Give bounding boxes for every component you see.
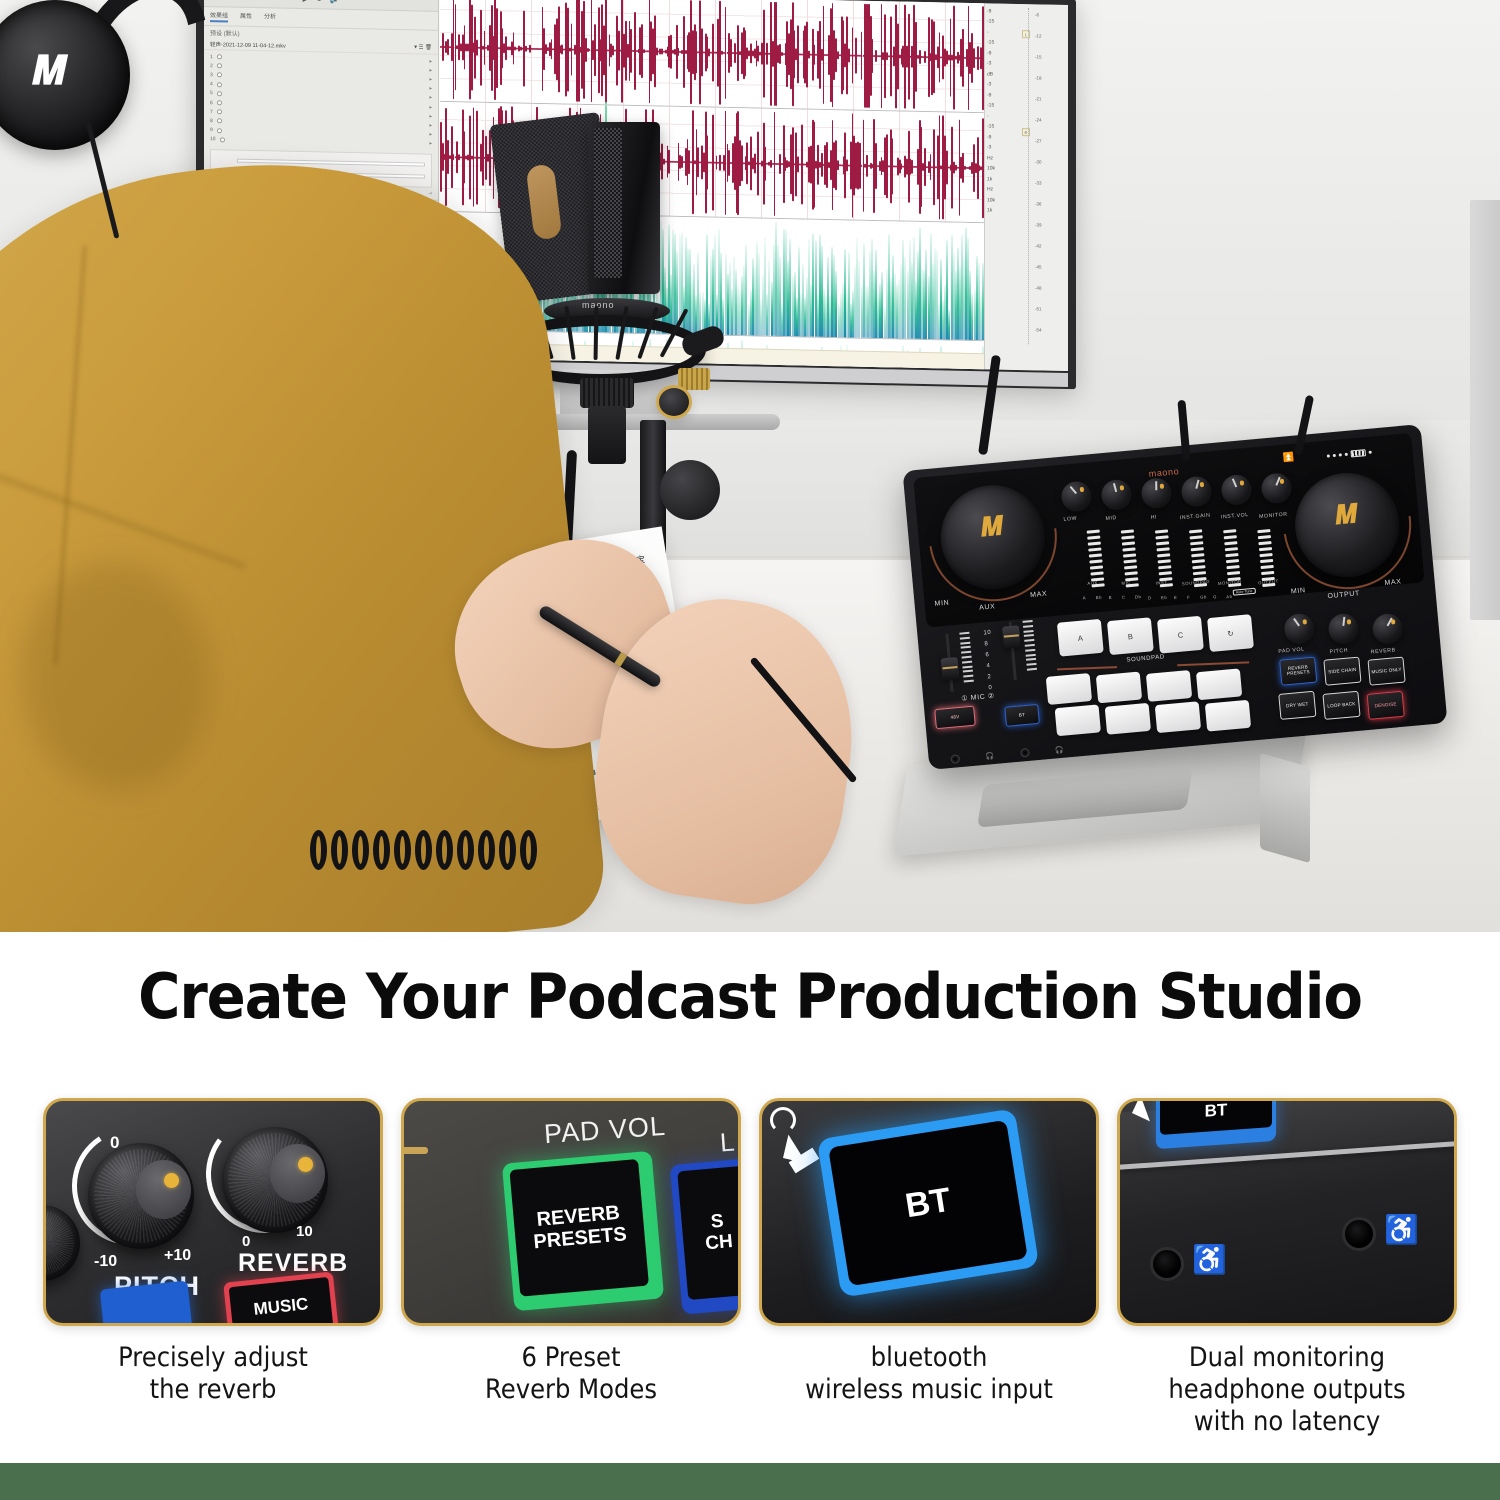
music-button-label: MUSIC xyxy=(229,1277,334,1326)
meter-tick: -36 xyxy=(1035,201,1042,206)
reverb-presets-button-large: REVERB PRESETS xyxy=(502,1151,664,1312)
side-chain-line2: CH xyxy=(705,1232,734,1255)
autotune-note: Db xyxy=(1135,594,1142,600)
pitch-max-tick: +10 xyxy=(164,1247,191,1265)
audio-mixer-interface[interactable]: 𝑴 MIN AUX MAX maono LOW MID HI INST.GAIN… xyxy=(902,424,1447,770)
pitch-knob[interactable] xyxy=(1327,613,1360,646)
fabric-fold xyxy=(0,461,246,570)
bluetooth-icon: ⏫ xyxy=(1282,452,1294,464)
db-tick: -9 xyxy=(987,135,1017,141)
feature-card-bluetooth: BT bluetooth wireless music input xyxy=(759,1098,1099,1338)
fader-scale-tick: 6 xyxy=(985,652,989,658)
meter-segment xyxy=(1121,535,1134,540)
meter-tick: -45 xyxy=(1035,264,1042,269)
mic-channel-label: ① MIC ② xyxy=(961,692,995,703)
fader-tick xyxy=(1023,625,1033,628)
waveform-sample xyxy=(605,0,607,103)
chevron-right-icon[interactable]: ▸ xyxy=(429,132,432,138)
meter-tick: -15 xyxy=(1035,54,1042,59)
pad-vol-label: PAD VOL xyxy=(1278,646,1305,654)
meter-segment xyxy=(1258,535,1271,540)
music-only-button[interactable]: MUSIC ONLY xyxy=(1367,657,1405,686)
cable-ring xyxy=(331,830,348,870)
fader-scale-tick: 2 xyxy=(987,674,991,680)
chevron-right-icon[interactable]: ▸ xyxy=(429,67,432,73)
meter-segment xyxy=(1121,529,1134,534)
fader-scale-tick: 4 xyxy=(986,663,990,669)
fader-tick xyxy=(959,632,969,635)
panel-edge-pin xyxy=(402,1147,428,1154)
fader-handle[interactable] xyxy=(1002,625,1021,648)
slot-toggle-icon[interactable] xyxy=(217,109,222,114)
soundpad-pad[interactable] xyxy=(1155,701,1201,733)
meter-tick: -33 xyxy=(1035,180,1042,185)
fader-tick xyxy=(964,680,974,683)
slot-toggle-icon[interactable] xyxy=(217,100,222,105)
headphone-jack-2[interactable] xyxy=(1020,748,1030,758)
meter-segment xyxy=(1261,565,1274,570)
slot-index: 9 xyxy=(210,127,213,133)
headphone-icon: 🎧 xyxy=(985,752,994,761)
slot-index: 2 xyxy=(210,63,213,69)
product-infographic-page: ▶ ↻ 🔊 效果组 属性 分析 预设 (默认) 轻声-2021-12-09 11… xyxy=(0,0,1500,1500)
pad-vol-knob[interactable] xyxy=(1283,613,1316,646)
mic-body-mesh xyxy=(594,128,622,278)
cable-ring xyxy=(499,830,516,870)
autotune-note: E xyxy=(1174,594,1178,599)
db-tick: -15 xyxy=(987,103,1017,109)
reverb-label: REVERB xyxy=(1371,647,1396,655)
reverb-knob-large xyxy=(222,1127,328,1233)
chevron-right-icon[interactable]: ▸ xyxy=(429,77,432,83)
autotune-note: A xyxy=(1082,595,1086,600)
meter-segment xyxy=(1190,541,1203,546)
cable-ring xyxy=(310,830,327,870)
card-caption: bluetooth wireless music input xyxy=(776,1342,1082,1406)
fader-tick xyxy=(960,641,970,644)
cable-ring xyxy=(457,830,474,870)
meter-segment xyxy=(1224,535,1237,540)
pitch-knob-large xyxy=(88,1143,194,1249)
meter-tick: -24 xyxy=(1035,117,1042,122)
meter-tick: -6 xyxy=(1035,12,1039,17)
meter-segment xyxy=(1089,559,1102,564)
slot-index: 10 xyxy=(210,136,216,142)
tab-effects[interactable]: 效果组 xyxy=(210,10,228,22)
fader-tick xyxy=(1025,649,1035,652)
meter-segment xyxy=(1123,553,1136,558)
fader-scale-tick: 10 xyxy=(983,630,991,637)
headphone-jack-left xyxy=(1150,1247,1184,1281)
db-tick: dB xyxy=(987,72,1017,78)
loop-back-button[interactable]: LOOP BACK xyxy=(1322,691,1360,720)
meter-tick: -30 xyxy=(1035,159,1042,164)
feature-card-reverb-presets: PAD VOL L REVERB PRESETS S CH 6 Preset R… xyxy=(401,1098,741,1338)
fader-tick xyxy=(1026,653,1036,656)
thumbnail-bluetooth: BT xyxy=(759,1098,1099,1326)
slot-index: 6 xyxy=(210,100,213,106)
fader-tick xyxy=(1024,634,1034,637)
autotune-note: D xyxy=(1148,595,1152,600)
level-meter-scale: -6-12-15-18-21-24-27-30-33-36-39-42-45-4… xyxy=(1028,8,1062,345)
meter-segment xyxy=(1122,547,1135,552)
soundpad-pad[interactable] xyxy=(1046,673,1092,705)
side-chain-button[interactable]: SIDE CHAIN xyxy=(1323,657,1361,686)
thumbnail-reverb-presets: PAD VOL L REVERB PRESETS S CH xyxy=(401,1098,741,1326)
chevron-right-icon[interactable]: ▸ xyxy=(429,141,432,147)
soundpad-pad[interactable] xyxy=(1096,672,1142,704)
meter-segment xyxy=(1087,530,1100,535)
mic-stand-knob xyxy=(660,460,720,520)
slot-toggle-icon[interactable] xyxy=(220,137,225,142)
meter-segment xyxy=(1123,559,1136,564)
db-tick: - xyxy=(987,114,1017,120)
bt-button-label: BT xyxy=(828,1120,1028,1286)
tilt-thumbscrew xyxy=(656,385,692,419)
meter-segment xyxy=(1189,529,1202,534)
meter-tick: -12 xyxy=(1035,33,1042,38)
cable-ring xyxy=(520,830,537,870)
slot-index: 5 xyxy=(210,90,213,96)
slot-toggle-icon[interactable] xyxy=(217,128,222,133)
meter-tick: -54 xyxy=(1035,327,1042,332)
card-caption: 6 Preset Reverb Modes xyxy=(418,1342,724,1406)
daw-file-name: 轻声-2021-12-09 11-04-12.mkv xyxy=(210,40,286,50)
chevron-right-icon[interactable]: ▸ xyxy=(429,95,432,101)
volume-icon[interactable]: 🔊 xyxy=(329,0,339,4)
db-tick: -15 xyxy=(987,40,1017,46)
side-chain-line1: S xyxy=(710,1211,724,1233)
denoise-button[interactable]: DENOISE xyxy=(1367,691,1405,720)
fader-tick xyxy=(1026,658,1036,661)
meter-segment xyxy=(1124,565,1137,570)
slot-toggle-icon[interactable] xyxy=(217,82,222,87)
daw-effect-slot-list: 1▸ 2▸ 3▸ 4▸ 5▸ 6▸ 7▸ 8▸ 9▸ 10▸ xyxy=(204,50,438,151)
soundpad-label: SOUNDPAD xyxy=(1126,654,1165,663)
meter-segment xyxy=(1226,559,1239,564)
soundpad-bank-a[interactable]: A xyxy=(1057,619,1104,657)
cable-ring xyxy=(394,830,411,870)
waveform-track-left[interactable] xyxy=(440,0,984,113)
cable-ring xyxy=(415,830,432,870)
chevron-right-icon[interactable]: ▸ xyxy=(429,123,432,129)
fader-handle[interactable] xyxy=(941,657,960,680)
headphone-icon: ♿ xyxy=(1192,1243,1227,1276)
db-tick: Hz xyxy=(987,156,1017,162)
xlr-connector xyxy=(588,406,626,464)
thumbnail-headphone-jacks: BT ♿ ♿ xyxy=(1117,1098,1457,1326)
autotune-note: Bb xyxy=(1096,595,1103,601)
loop-icon[interactable]: ↻ xyxy=(316,0,323,3)
meter-segment xyxy=(1157,547,1170,552)
meter-segment xyxy=(1259,553,1272,558)
pitch-label: PITCH xyxy=(1329,648,1348,656)
autotune-note: F xyxy=(1187,594,1191,599)
hi-label: HI xyxy=(1150,514,1157,521)
slot-index: 7 xyxy=(210,109,213,115)
fader-tick xyxy=(1024,639,1034,642)
headphone-jack-right xyxy=(1342,1217,1376,1251)
meter-segment xyxy=(1159,571,1172,576)
slot-toggle-icon[interactable] xyxy=(217,54,222,59)
meter-segment xyxy=(1258,541,1271,546)
meter-segment xyxy=(1223,529,1236,534)
autotune-note: B xyxy=(1109,595,1113,600)
meter-tick: -48 xyxy=(1035,285,1042,290)
chevron-right-icon[interactable]: ▸ xyxy=(429,86,432,92)
db-tick: -15 xyxy=(987,124,1017,130)
fader-tick xyxy=(961,651,971,654)
autotune-note: Ab xyxy=(1226,594,1233,600)
slot-index: 3 xyxy=(210,72,213,78)
blue-button-partial xyxy=(100,1281,193,1326)
reverb-knob[interactable] xyxy=(1371,613,1404,646)
bt-button-label: BT xyxy=(1160,1098,1272,1135)
cable-ring xyxy=(478,830,495,870)
fader-tick xyxy=(962,660,972,663)
db-tick: 1k xyxy=(987,177,1017,183)
meter-segment xyxy=(1192,559,1205,564)
feature-card-reverb-knob: 0 -10 +10 PITCH 0 10 REVERB MUSIC Precis… xyxy=(43,1098,383,1338)
meter-tick: -51 xyxy=(1035,306,1042,311)
soundpad-bank-b[interactable]: B xyxy=(1107,617,1154,655)
soundpad-bank-c[interactable]: C xyxy=(1157,616,1204,654)
soundpad-pad[interactable] xyxy=(1055,704,1101,736)
db-tick: 1k xyxy=(987,208,1017,214)
chevron-right-icon[interactable]: ▸ xyxy=(429,113,432,119)
soundpad-pad[interactable] xyxy=(1105,703,1151,735)
fader-scale-tick: 0 xyxy=(988,685,992,691)
mic1-fader[interactable] xyxy=(939,633,959,692)
soundpad-pad[interactable] xyxy=(1205,700,1251,732)
meter-segment xyxy=(1225,553,1238,558)
autotune-note: C xyxy=(1122,595,1126,600)
bt-button-large: BT xyxy=(817,1108,1040,1297)
headphone-jack-1[interactable] xyxy=(950,754,960,764)
meter-segment xyxy=(1191,553,1204,558)
meter-segment xyxy=(1088,547,1101,552)
pad-vol-text: PAD VOL xyxy=(543,1111,667,1150)
mic1-fader-ticks xyxy=(959,632,973,683)
fader-tick xyxy=(1023,630,1033,633)
meter-segment xyxy=(1192,565,1205,570)
slot-toggle-icon[interactable] xyxy=(217,63,222,68)
meter-tick: -39 xyxy=(1035,222,1042,227)
meter-label-inst: INST xyxy=(1155,580,1167,586)
aux-label: AUX xyxy=(979,603,996,611)
meter-segment xyxy=(1157,553,1170,558)
reverb-presets-button[interactable]: REVERB PRESETS xyxy=(1279,657,1317,686)
meter-segment xyxy=(1122,541,1135,546)
fader-tick xyxy=(1027,668,1037,671)
fader-tick xyxy=(962,656,972,659)
soundpad-pad[interactable] xyxy=(1146,670,1192,702)
mic-knurled-nut xyxy=(580,378,634,408)
meter-segment xyxy=(1227,571,1240,576)
meter-segment xyxy=(1224,541,1237,546)
low-label: LOW xyxy=(1063,516,1077,523)
meter-segment xyxy=(1088,541,1101,546)
db-scale-column: -9-15--15-9-3dB-3-9-15--15-9-3Hz10k1kHz1… xyxy=(987,3,1017,219)
fader-tick xyxy=(963,675,973,678)
fader-tick xyxy=(961,646,971,649)
meter-segment xyxy=(1257,529,1270,534)
fader-tick xyxy=(1023,620,1033,623)
db-tick: - xyxy=(987,30,1017,36)
feature-card-row: 0 -10 +10 PITCH 0 10 REVERB MUSIC Precis… xyxy=(0,1098,1500,1338)
maono-logo-icon: 𝑴 xyxy=(32,48,76,96)
autotune-note: Gb xyxy=(1200,594,1207,600)
slot-index: 8 xyxy=(210,118,213,124)
reverb-zero-tick: 0 xyxy=(242,1233,250,1250)
db-tick: 10k xyxy=(987,166,1017,172)
meter-segment xyxy=(1087,536,1100,541)
dry-wet-button[interactable]: DRY WET xyxy=(1278,691,1316,720)
fader-tick xyxy=(1026,663,1036,666)
card-caption: Dual monitoring headphone outputs with n… xyxy=(1134,1342,1440,1438)
soundpad-loop-button[interactable]: ↻ xyxy=(1207,614,1254,652)
meter-segment xyxy=(1226,565,1239,570)
db-tick: -3 xyxy=(987,61,1017,67)
autotune-note: Eb xyxy=(1161,594,1168,600)
soundpad-divider-right xyxy=(1177,661,1249,666)
db-tick: 10k xyxy=(987,198,1017,204)
card-caption: Precisely adjust the reverb xyxy=(60,1342,366,1406)
slot-toggle-icon[interactable] xyxy=(217,73,222,78)
meter-segment xyxy=(1261,571,1274,576)
output-label: OUTPUT xyxy=(1327,590,1360,600)
side-chain-button-partial: S CH xyxy=(670,1157,741,1314)
fader-tick xyxy=(1025,644,1035,647)
meter-segment xyxy=(1155,535,1168,540)
play-icon[interactable]: ▶ xyxy=(303,0,309,3)
second-monitor xyxy=(1470,200,1500,620)
bt-button-small: BT xyxy=(1156,1098,1276,1149)
headphone-icon: ♿ xyxy=(1384,1213,1419,1246)
fabric-shadow xyxy=(10,552,223,801)
meter-segment xyxy=(1090,565,1103,570)
swirl-icon xyxy=(770,1107,796,1133)
headphones: 𝑴 xyxy=(0,0,160,170)
meter-tick: -27 xyxy=(1035,138,1042,143)
thumbnail-reverb-knob: 0 -10 +10 PITCH 0 10 REVERB MUSIC xyxy=(43,1098,383,1326)
soundpad-pad[interactable] xyxy=(1196,668,1242,700)
slot-index: 4 xyxy=(210,81,213,87)
tab-properties[interactable]: 属性 xyxy=(240,11,252,23)
output-min-label: MIN xyxy=(1291,587,1306,595)
meter-segment xyxy=(1259,547,1272,552)
meter-segment xyxy=(1158,559,1171,564)
meter-segment xyxy=(1158,565,1171,570)
coiled-cable xyxy=(310,830,540,876)
feature-card-dual-headphone: BT ♿ ♿ Dual monitoring headphone outputs… xyxy=(1117,1098,1457,1338)
meter-tick: -42 xyxy=(1035,243,1042,248)
partial-knob xyxy=(43,1205,80,1281)
daw-file-actions[interactable]: ▾ ☰ 🗑 xyxy=(414,44,432,52)
meter-segment xyxy=(1193,571,1206,576)
db-tick: -3 xyxy=(987,145,1017,151)
meter-segment xyxy=(1125,571,1138,576)
mid-label: MID xyxy=(1105,515,1117,522)
db-tick: -3 xyxy=(987,82,1017,88)
music-button-partial: MUSIC xyxy=(223,1271,339,1326)
meter-segment xyxy=(1260,559,1273,564)
slot-index: 1 xyxy=(210,54,213,60)
meter-segment xyxy=(1155,529,1168,534)
chevron-right-icon[interactable]: ▸ xyxy=(429,104,432,110)
fader-scale-tick: 8 xyxy=(984,641,988,647)
fader-tick xyxy=(962,665,972,668)
cable-ring xyxy=(436,830,453,870)
cable-ring xyxy=(352,830,369,870)
db-tick: -9 xyxy=(987,51,1017,57)
page-title: Create Your Podcast Production Studio xyxy=(53,960,1448,1033)
meter-segment xyxy=(1156,541,1169,546)
headphone-icon: 🎧 xyxy=(1055,745,1064,754)
meter-segment xyxy=(1089,553,1102,558)
bt-button[interactable]: BT xyxy=(1004,704,1040,727)
db-tick: Hz xyxy=(987,187,1017,193)
db-tick: -15 xyxy=(987,19,1017,25)
hero-photo: ▶ ↻ 🔊 效果组 属性 分析 预设 (默认) 轻声-2021-12-09 11… xyxy=(0,0,1500,932)
fader-tick xyxy=(960,637,970,640)
stand-leg xyxy=(1260,753,1310,863)
pitch-zero-tick: 0 xyxy=(110,1133,119,1153)
neighbor-label-partial: L xyxy=(718,1127,735,1159)
db-tick: -9 xyxy=(987,93,1017,99)
phantom-power-button[interactable]: 48V xyxy=(934,706,976,730)
cable-ring xyxy=(373,830,390,870)
meter-segment xyxy=(1225,547,1238,552)
output-max-label: MAX xyxy=(1384,578,1402,587)
green-footer-bar xyxy=(0,1463,1500,1500)
mic2-fader[interactable] xyxy=(1003,621,1023,680)
meter-label-aux: AUX xyxy=(1087,580,1098,586)
reverb-max-tick: 10 xyxy=(296,1223,313,1240)
tick: -4 xyxy=(428,191,432,196)
soundpad-divider-left xyxy=(1057,666,1117,670)
chevron-right-icon[interactable]: ▸ xyxy=(429,58,432,64)
slot-toggle-icon[interactable] xyxy=(217,119,222,124)
fader-tick xyxy=(963,670,973,673)
meter-segment xyxy=(1190,535,1203,540)
meter-label-mic: MIC xyxy=(1121,580,1131,586)
daw-right-scales: -9-15--15-9-3dB-3-9-15--15-9-3Hz10k1kHz1… xyxy=(984,3,1068,371)
meter-segment xyxy=(1191,547,1204,552)
autotune-note: G xyxy=(1213,594,1217,599)
meter-segment xyxy=(1090,571,1103,576)
pitch-min-tick: -10 xyxy=(94,1253,117,1271)
mic2-fader-ticks xyxy=(1023,620,1037,671)
tab-analysis[interactable]: 分析 xyxy=(264,11,276,23)
meter-tick: -21 xyxy=(1035,96,1042,101)
aux-min-label: MIN xyxy=(934,599,949,607)
meter-tick: -18 xyxy=(1035,75,1042,80)
arrow-icon xyxy=(760,1135,807,1182)
slot-toggle-icon[interactable] xyxy=(217,91,222,96)
db-tick: -9 xyxy=(987,9,1017,15)
battery-icon xyxy=(1350,449,1366,457)
